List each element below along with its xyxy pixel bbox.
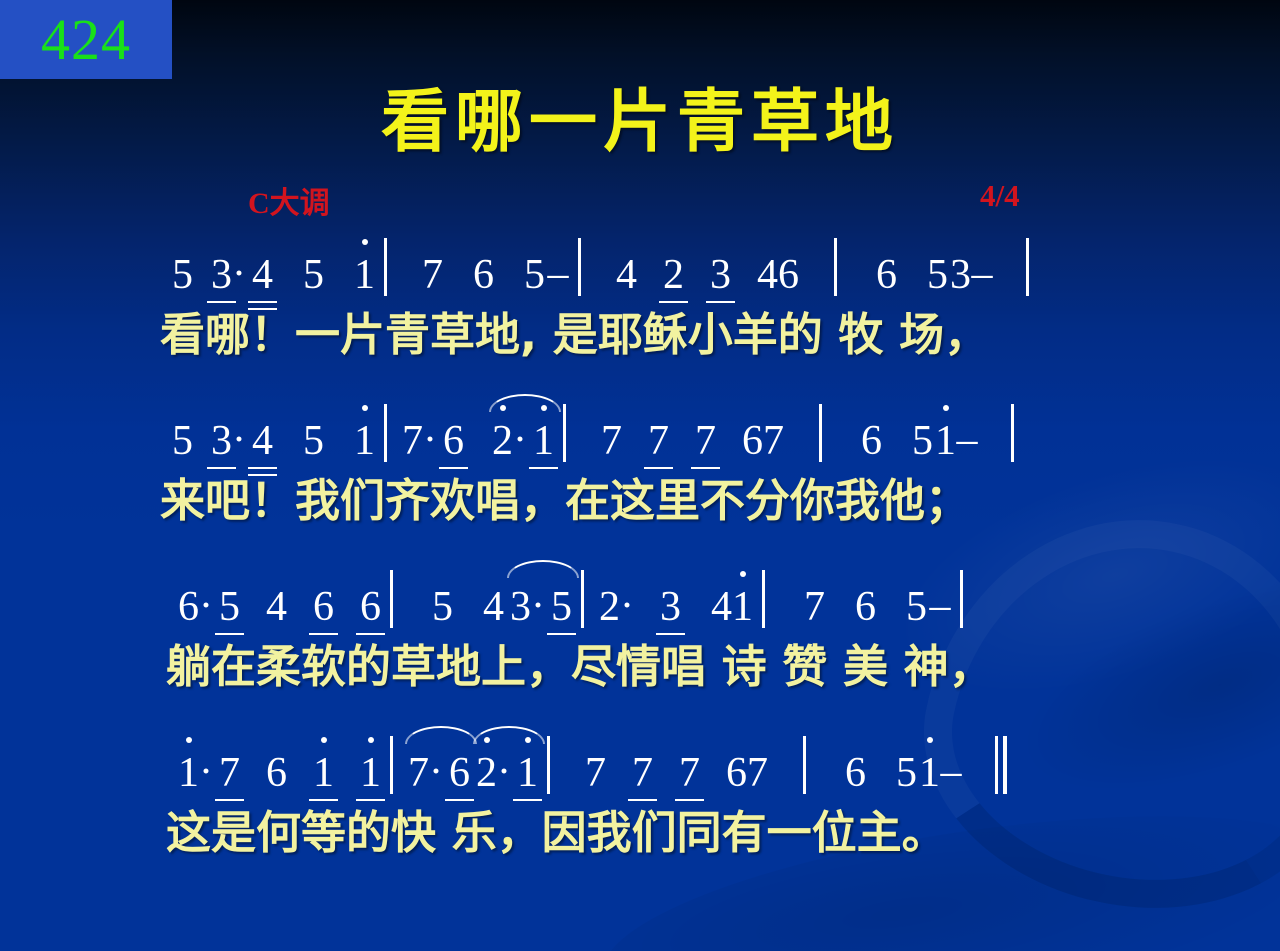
note-glyph: 6 [266, 750, 287, 796]
note: 1 [354, 252, 375, 298]
note: 1 [935, 418, 956, 464]
note: 3 [950, 252, 971, 298]
note: 7 [585, 750, 606, 796]
note-glyph: 6 [876, 252, 897, 298]
barline [581, 570, 584, 628]
score-body: 53·451765–42346653–看哪！一片青草地, 是耶稣小羊的 牧 场，… [0, 226, 1280, 890]
note-glyph: 5 [551, 584, 572, 630]
note: 5 [912, 418, 933, 464]
note: 7 [601, 418, 622, 464]
stave: 1·76117·62·177767651–这是何等的快 乐，因我们同有一位主。 [0, 724, 1280, 890]
barline [834, 238, 837, 296]
note-augmentation-dot: · [620, 582, 634, 630]
note: 4 [757, 252, 778, 298]
note-glyph: 4 [252, 418, 273, 464]
note-glyph: 6 [778, 252, 799, 298]
barline [390, 736, 393, 794]
slur-arc [507, 560, 579, 578]
note-augmentation-dot: · [429, 748, 443, 796]
note: 7 [408, 750, 429, 796]
note-glyph: 7 [763, 418, 784, 464]
note-glyph: 6 [742, 418, 763, 464]
barline [384, 238, 387, 296]
note: 1 [313, 750, 334, 796]
note-glyph: 7 [422, 252, 443, 298]
note-glyph: 5 [896, 750, 917, 796]
note: 5 [172, 252, 193, 298]
note: 5 [927, 252, 948, 298]
note-glyph: 6 [855, 584, 876, 630]
note: 5 [172, 418, 193, 464]
note-augmentation-dot: · [531, 582, 545, 630]
note: 5 [303, 418, 324, 464]
note: 3 [510, 584, 531, 630]
note-glyph: 5 [524, 252, 545, 298]
note-glyph: 4 [711, 584, 732, 630]
notation-row: 1·76117·62·177767651– [0, 724, 1280, 796]
note-glyph: 1 [517, 750, 538, 796]
note-glyph: 7 [219, 750, 240, 796]
note: 7 [422, 252, 443, 298]
note: 6 [726, 750, 747, 796]
note-glyph: 1 [533, 418, 554, 464]
note-glyph: 4 [266, 584, 287, 630]
note-glyph: 7 [601, 418, 622, 464]
note-glyph: 1 [313, 750, 334, 796]
note: 5 [432, 584, 453, 630]
note: 7 [648, 418, 669, 464]
note: 2 [663, 252, 684, 298]
note: 7 [632, 750, 653, 796]
note: 2 [599, 584, 620, 630]
note: 6 [778, 252, 799, 298]
note: 4 [252, 252, 273, 298]
note: 7 [763, 418, 784, 464]
note-glyph: 4 [757, 252, 778, 298]
note: 1 [517, 750, 538, 796]
note: 6 [845, 750, 866, 796]
note-glyph: 6 [443, 418, 464, 464]
note-glyph: 1 [354, 418, 375, 464]
note-glyph: 6 [473, 252, 494, 298]
page-title: 看哪一片青草地 [0, 66, 1280, 165]
note: 6 [876, 252, 897, 298]
hymn-number: 424 [41, 11, 131, 69]
notation-row: 6·5466543·52·341765– [0, 558, 1280, 630]
note-sustain-dash: – [547, 250, 569, 298]
note: 6 [473, 252, 494, 298]
note-glyph: 4 [483, 584, 504, 630]
note-augmentation-dot: · [513, 416, 527, 464]
note: 6 [443, 418, 464, 464]
note-glyph: 6 [845, 750, 866, 796]
notation-row: 53·451765–42346653– [0, 226, 1280, 298]
note: 5 [906, 584, 927, 630]
note: 6 [178, 584, 199, 630]
note-glyph: 7 [679, 750, 700, 796]
note: 7 [679, 750, 700, 796]
slur-arc [489, 394, 561, 412]
barline [578, 238, 581, 296]
note: 3 [211, 418, 232, 464]
lyrics-row: 看哪！一片青草地, 是耶稣小羊的 牧 场， [0, 298, 1280, 363]
note: 3 [211, 252, 232, 298]
note: 7 [747, 750, 768, 796]
note: 3 [710, 252, 731, 298]
note-augmentation-dot: · [497, 748, 511, 796]
note-glyph: 6 [726, 750, 747, 796]
stave: 53·451765–42346653–看哪！一片青草地, 是耶稣小羊的 牧 场， [0, 226, 1280, 392]
note-augmentation-dot: · [423, 416, 437, 464]
barline [1011, 404, 1014, 462]
lyrics-row: 躺在柔软的草地上，尽情唱 诗 赞 美 神， [0, 630, 1280, 695]
note: 7 [219, 750, 240, 796]
note: 6 [360, 584, 381, 630]
slur-arc [473, 726, 545, 744]
note-glyph: 6 [449, 750, 470, 796]
note-glyph: 6 [313, 584, 334, 630]
note-glyph: 1 [360, 750, 381, 796]
note-sustain-dash: – [940, 748, 962, 796]
note-glyph: 6 [178, 584, 199, 630]
note: 1 [178, 750, 199, 796]
note-glyph: 5 [303, 252, 324, 298]
note-glyph: 5 [927, 252, 948, 298]
barline [762, 570, 765, 628]
stave: 53·4517·62·177767651–来吧！我们齐欢唱，在这里不分你我他； [0, 392, 1280, 558]
note-augmentation-dot: · [232, 250, 246, 298]
note-glyph: 4 [616, 252, 637, 298]
barline [819, 404, 822, 462]
barline [547, 736, 550, 794]
note-glyph: 2 [492, 418, 513, 464]
note-glyph: 1 [354, 252, 375, 298]
note: 5 [896, 750, 917, 796]
note-glyph: 5 [432, 584, 453, 630]
time-signature: 4/4 [980, 178, 1020, 214]
slur-arc [405, 726, 477, 744]
note-augmentation-dot: · [199, 748, 213, 796]
note-glyph: 7 [804, 584, 825, 630]
note-glyph: 4 [252, 252, 273, 298]
final-barline [995, 736, 1007, 794]
note: 1 [533, 418, 554, 464]
note: 4 [711, 584, 732, 630]
note: 4 [252, 418, 273, 464]
note: 6 [861, 418, 882, 464]
note: 6 [449, 750, 470, 796]
note-glyph: 5 [906, 584, 927, 630]
note-glyph: 7 [695, 418, 716, 464]
note-sustain-dash: – [956, 416, 978, 464]
note: 4 [483, 584, 504, 630]
note: 4 [266, 584, 287, 630]
lyrics-row: 这是何等的快 乐，因我们同有一位主。 [0, 796, 1280, 861]
note: 1 [360, 750, 381, 796]
note-glyph: 3 [211, 418, 232, 464]
note: 5 [303, 252, 324, 298]
note-glyph: 2 [599, 584, 620, 630]
note-glyph: 3 [211, 252, 232, 298]
note-glyph: 5 [219, 584, 240, 630]
note-glyph: 3 [710, 252, 731, 298]
note-glyph: 7 [632, 750, 653, 796]
note-glyph: 3 [510, 584, 531, 630]
note-glyph: 2 [663, 252, 684, 298]
note: 6 [742, 418, 763, 464]
note-glyph: 7 [648, 418, 669, 464]
note: 6 [313, 584, 334, 630]
note-glyph: 7 [585, 750, 606, 796]
note-glyph: 6 [360, 584, 381, 630]
barline [390, 570, 393, 628]
note-glyph: 5 [912, 418, 933, 464]
note-glyph: 3 [950, 252, 971, 298]
notation-row: 53·4517·62·177767651– [0, 392, 1280, 464]
note-glyph: 3 [660, 584, 681, 630]
note-glyph: 5 [303, 418, 324, 464]
note: 7 [402, 418, 423, 464]
note: 5 [551, 584, 572, 630]
note: 1 [732, 584, 753, 630]
note: 5 [219, 584, 240, 630]
note-glyph: 7 [402, 418, 423, 464]
note-augmentation-dot: · [232, 416, 246, 464]
note: 7 [695, 418, 716, 464]
note: 1 [919, 750, 940, 796]
note: 2 [492, 418, 513, 464]
stave: 6·5466543·52·341765–躺在柔软的草地上，尽情唱 诗 赞 美 神… [0, 558, 1280, 724]
note-glyph: 7 [408, 750, 429, 796]
hymn-slide: 424 看哪一片青草地 C大调 4/4 53·451765–42346653–看… [0, 0, 1280, 951]
note-glyph: 1 [178, 750, 199, 796]
note: 4 [616, 252, 637, 298]
note-glyph: 1 [935, 418, 956, 464]
note: 7 [804, 584, 825, 630]
note: 6 [266, 750, 287, 796]
barline [1026, 238, 1029, 296]
key-signature: C大调 [248, 178, 330, 222]
note: 5 [524, 252, 545, 298]
note-glyph: 5 [172, 252, 193, 298]
note-glyph: 5 [172, 418, 193, 464]
note: 2 [476, 750, 497, 796]
note-glyph: 6 [861, 418, 882, 464]
note: 1 [354, 418, 375, 464]
note-sustain-dash: – [971, 250, 993, 298]
note-glyph: 7 [747, 750, 768, 796]
note: 3 [660, 584, 681, 630]
note-glyph: 1 [919, 750, 940, 796]
note-sustain-dash: – [929, 582, 951, 630]
barline [960, 570, 963, 628]
note: 6 [855, 584, 876, 630]
barline [803, 736, 806, 794]
note-augmentation-dot: · [199, 582, 213, 630]
note-glyph: 2 [476, 750, 497, 796]
barline [563, 404, 566, 462]
lyrics-row: 来吧！我们齐欢唱，在这里不分你我他； [0, 464, 1280, 529]
note-glyph: 1 [732, 584, 753, 630]
score-meta: C大调 4/4 [0, 178, 1280, 218]
barline [384, 404, 387, 462]
